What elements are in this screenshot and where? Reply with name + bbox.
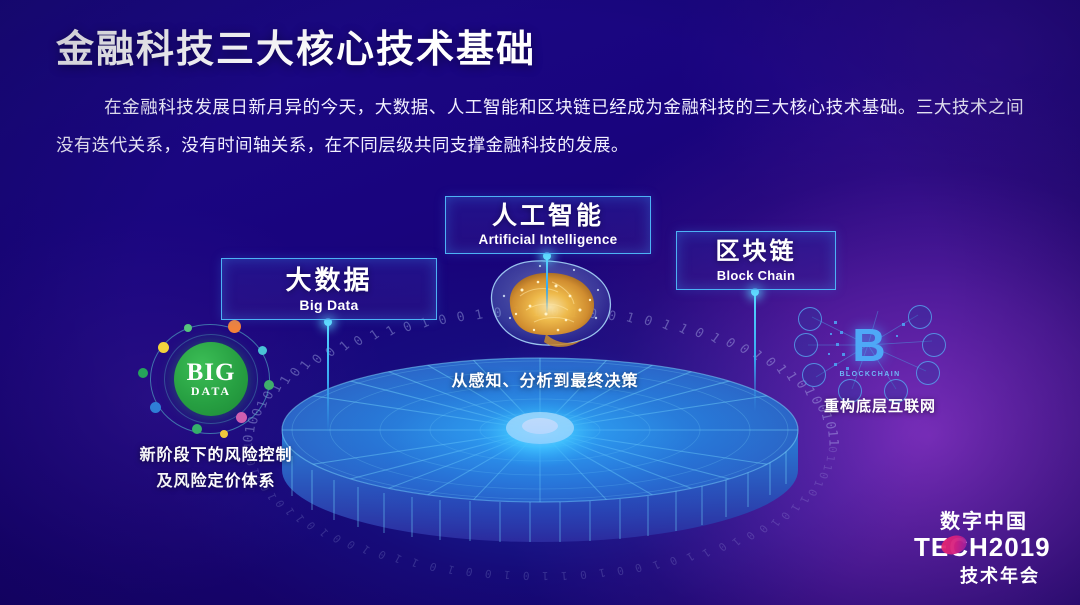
binary-digit: 1 xyxy=(824,455,838,463)
binary-digit: 1 xyxy=(597,565,606,579)
big-data-node-green-3 xyxy=(264,380,274,390)
pillar-label-cn: 人工智能 xyxy=(492,202,604,230)
binary-digit: 1 xyxy=(360,542,373,556)
binary-digit: 1 xyxy=(811,479,825,489)
blockchain-letter-b: B xyxy=(842,317,896,373)
binary-digit: 0 xyxy=(484,566,493,580)
blockchain-icon-shield xyxy=(922,333,946,357)
big-data-graphic: BIG DATA xyxy=(132,320,292,440)
caption-blockchain: 重构底层互联网 xyxy=(800,395,960,416)
binary-digit: 1 xyxy=(651,557,662,572)
blockchain-word: BLOCKCHAIN xyxy=(834,371,906,378)
binary-digit: 1 xyxy=(392,552,404,567)
connector-ai xyxy=(546,256,548,314)
caption-big-data-line2: 及风险定价体系 xyxy=(96,469,336,495)
pillar-label-cn: 区块链 xyxy=(716,238,797,266)
connector-blockchain xyxy=(754,292,756,412)
pillar-label-cn: 大数据 xyxy=(285,265,372,295)
big-data-word-data: DATA xyxy=(191,385,231,398)
binary-digit: 1 xyxy=(821,463,835,472)
big-data-word-big: BIG xyxy=(187,361,236,385)
binary-digit: 1 xyxy=(542,569,549,582)
binary-digit: 0 xyxy=(455,309,467,326)
big-data-node-orange xyxy=(228,320,241,333)
pillar-label-en: Artificial Intelligence xyxy=(479,231,618,248)
binary-digit: 0 xyxy=(436,312,448,329)
blockchain-icon-settings xyxy=(798,307,822,331)
binary-digit: 0 xyxy=(825,446,838,453)
page-title: 金融科技三大核心技术基础 xyxy=(56,18,536,73)
pillar-label-ai[interactable]: 人工智能 Artificial Intelligence xyxy=(445,196,651,254)
big-data-node-green-4 xyxy=(184,324,192,332)
big-data-node-yellow-2 xyxy=(220,430,228,438)
big-data-node-green xyxy=(138,368,148,378)
binary-digit: 0 xyxy=(642,313,655,330)
pillar-label-en: Block Chain xyxy=(717,267,795,284)
logo-line-top: 数字中国 xyxy=(940,505,1028,534)
binary-digit: 1 xyxy=(676,321,690,338)
big-data-node-teal xyxy=(258,346,267,355)
blockchain-icon-home xyxy=(916,361,940,385)
binary-digit: 0 xyxy=(616,563,626,577)
connector-big-data xyxy=(327,322,329,432)
slide-root: 金融科技三大核心技术基础 在金融科技发展日新月异的今天，大数据、人工智能和区块链… xyxy=(0,0,1080,605)
binary-digit: 0 xyxy=(522,569,529,582)
binary-digit: 1 xyxy=(410,556,422,571)
binary-digit: 1 xyxy=(707,330,722,347)
blockchain-icon-bank xyxy=(794,333,818,357)
binary-digit: 0 xyxy=(633,561,644,575)
big-data-node-green-2 xyxy=(192,424,202,434)
binary-digit: 1 xyxy=(824,429,840,438)
body-paragraph: 在金融科技发展日新月异的今天，大数据、人工智能和区块链已经成为金融科技的三大核心… xyxy=(56,88,1024,164)
binary-digit: 0 xyxy=(352,333,367,350)
big-data-node-yellow xyxy=(158,342,169,353)
pillar-label-blockchain[interactable]: 区块链 Block Chain xyxy=(676,231,836,290)
caption-big-data-line1: 新阶段下的风险控制 xyxy=(96,443,336,469)
binary-digit: 1 xyxy=(367,328,382,345)
binary-digit: 0 xyxy=(816,471,830,481)
big-data-node-pink xyxy=(236,412,247,423)
logo-line-tech: TECH2019 xyxy=(914,532,1051,563)
event-logo: 数字中国 TECH2019 技术年会 xyxy=(900,505,1060,591)
binary-digit: 0 xyxy=(668,554,680,569)
pillar-label-big-data[interactable]: 大数据 Big Data xyxy=(221,258,437,320)
body-paragraph-text: 在金融科技发展日新月异的今天，大数据、人工智能和区块链已经成为金融科技的三大核心… xyxy=(56,97,1024,155)
binary-digit: 1 xyxy=(503,568,511,582)
caption-ai: 从感知、分析到最终决策 xyxy=(420,367,670,391)
binary-digit: 0 xyxy=(579,567,587,581)
binary-digit: 1 xyxy=(384,323,398,340)
big-data-circle: BIG DATA xyxy=(174,342,248,416)
binary-digit: 0 xyxy=(692,325,707,342)
blockchain-graphic: B BLOCKCHAIN xyxy=(790,305,950,405)
binary-digit: 0 xyxy=(722,336,738,353)
caption-big-data: 新阶段下的风险控制 及风险定价体系 xyxy=(96,443,336,495)
binary-digit: 1 xyxy=(446,562,456,576)
blockchain-icon-leaf xyxy=(802,363,826,387)
big-data-node-blue xyxy=(150,402,161,413)
binary-digit: 1 xyxy=(684,549,696,564)
binary-digit: 0 xyxy=(401,319,415,336)
binary-digit: 1 xyxy=(659,317,672,334)
binary-digit: 0 xyxy=(805,487,820,498)
binary-digit: 1 xyxy=(624,310,636,327)
logo-line-bottom: 技术年会 xyxy=(960,562,1040,588)
binary-digit: 1 xyxy=(825,438,840,446)
blockchain-icon-chart xyxy=(908,305,932,329)
binary-digit: 1 xyxy=(560,568,568,581)
pillar-label-en: Big Data xyxy=(299,296,358,314)
binary-digit: 1 xyxy=(700,545,713,559)
binary-digit: 0 xyxy=(428,559,439,574)
binary-digit: 0 xyxy=(822,420,838,430)
binary-digit: 0 xyxy=(465,564,475,578)
binary-digit: 0 xyxy=(376,547,389,562)
